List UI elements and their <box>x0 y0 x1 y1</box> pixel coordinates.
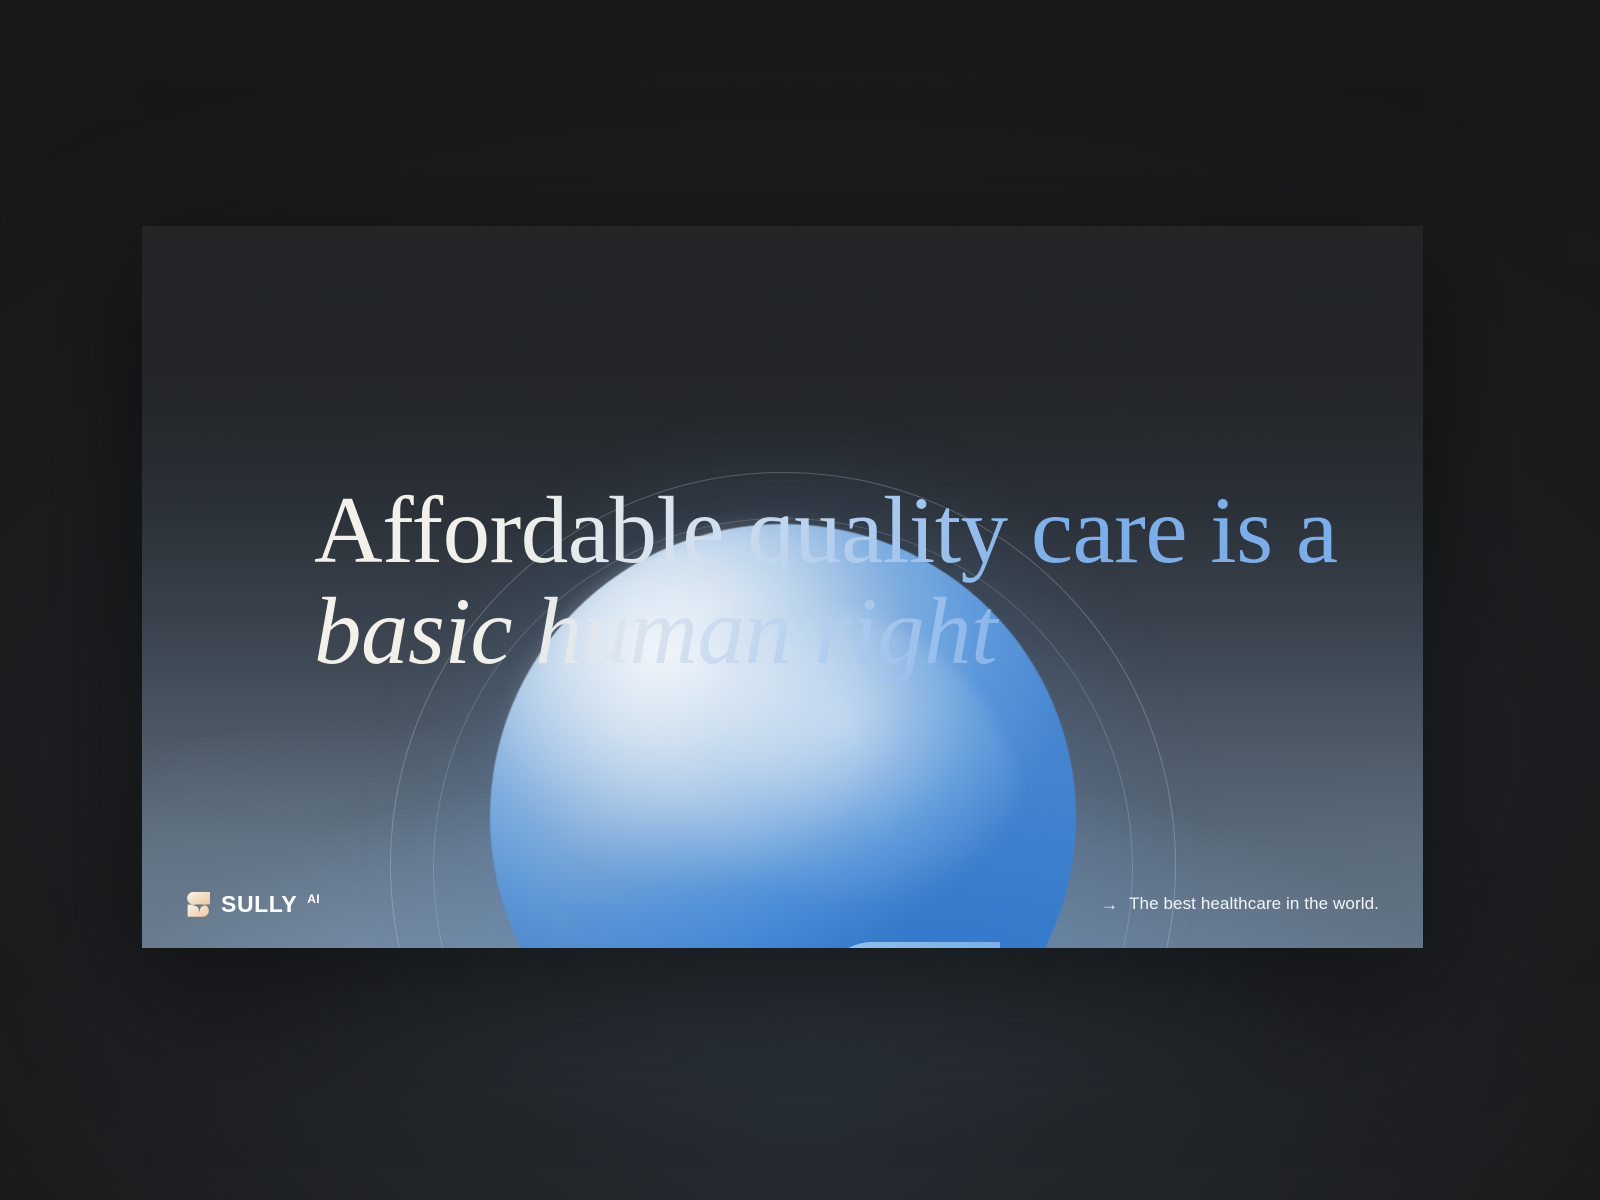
brand-wordmark: SULLY <box>221 893 297 916</box>
arrow-right-icon: → <box>1101 896 1118 913</box>
sully-glyph-icon <box>814 936 1010 948</box>
brand-superscript: AI <box>307 893 320 905</box>
tagline-text: The best healthcare in the world. <box>1129 894 1379 914</box>
sully-sparkle-mark-icon <box>186 891 212 917</box>
headline-line-1-a: Affordable quality <box>314 477 1031 583</box>
desktop-backdrop: Affordable quality care is a basic human… <box>0 0 1600 1200</box>
presentation-slide: Affordable quality care is a basic human… <box>142 226 1423 948</box>
tagline: → The best healthcare in the world. <box>1101 894 1379 914</box>
headline-line-1-b: care is a <box>1031 477 1338 583</box>
slide-footer: SULLY AI → The best healthcare in the wo… <box>142 884 1423 924</box>
headline-line-2: basic human right <box>314 578 997 684</box>
page-title: Affordable quality care is a basic human… <box>314 480 1423 681</box>
brand-logo[interactable]: SULLY AI <box>186 891 320 917</box>
